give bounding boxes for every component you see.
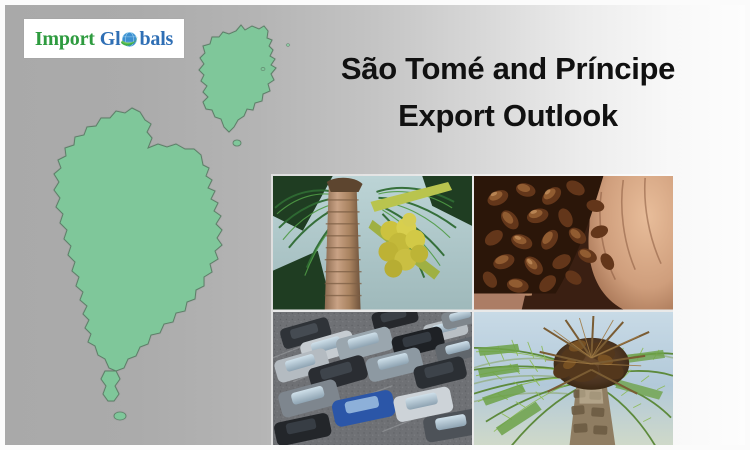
- parked-cars-photo: [273, 312, 472, 446]
- globe-icon: [120, 30, 139, 49]
- oil-palm-photo: [474, 312, 673, 446]
- sao-tome-island: [54, 108, 222, 420]
- poster-stage: ImportGl bals São Tomé and Príncipe: [5, 5, 745, 445]
- principe-island: [199, 25, 290, 146]
- logo-text-bals: bals: [139, 29, 173, 49]
- import-globals-logo[interactable]: ImportGl bals: [24, 19, 184, 58]
- title-line-2: Export Outlook: [288, 92, 728, 139]
- page-title: São Tomé and Príncipe Export Outlook: [288, 45, 728, 139]
- logo-wordmark: ImportGl bals: [35, 29, 173, 49]
- cocoa-beans-photo: [474, 176, 673, 310]
- export-outlook-poster: ImportGl bals São Tomé and Príncipe: [0, 0, 750, 450]
- title-line-1: São Tomé and Príncipe: [288, 45, 728, 92]
- photo-collage: [273, 176, 673, 445]
- coconut-palm-photo: [273, 176, 472, 310]
- logo-text-gl: Gl: [100, 29, 121, 49]
- logo-text-import: Import: [35, 29, 95, 49]
